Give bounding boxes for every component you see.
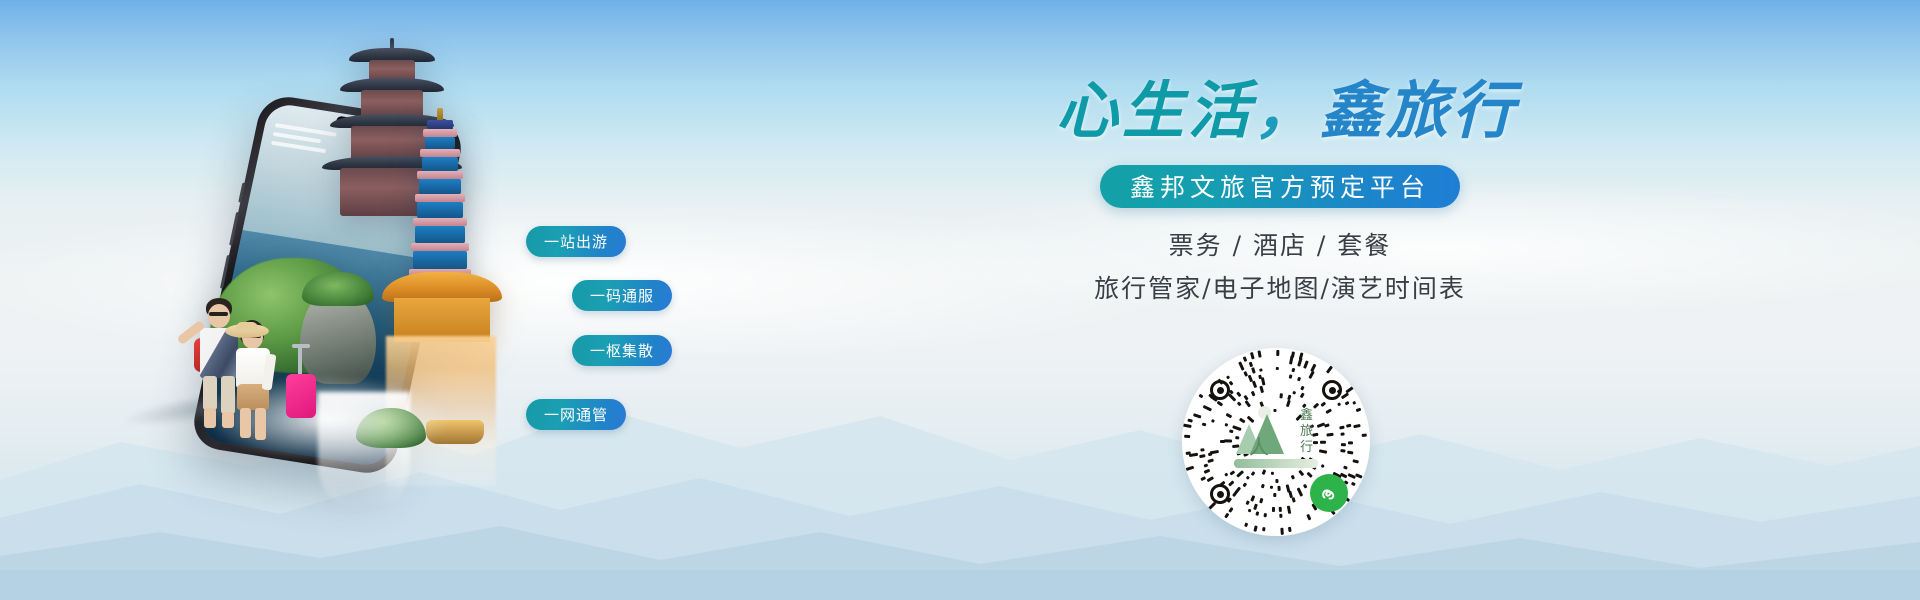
feature-pill-group: 一站出游 一码通服 一枢集散 一网通管 (520, 180, 820, 460)
headline-part-b: 鑫旅行 (1320, 74, 1518, 147)
female-traveler (226, 310, 288, 432)
service-line-2: 旅行管家/电子地图/演艺时间表 (1000, 269, 1560, 305)
headline-comma: ， (1254, 74, 1320, 147)
feature-pill-one-code-service[interactable]: 一码通服 (572, 280, 672, 311)
feature-pill-label: 一码通服 (590, 285, 654, 306)
qr-finder-top-right (1322, 380, 1342, 400)
promo-text-block: 心生活，鑫旅行 鑫邦文旅官方预定平台 票务 / 酒店 / 套餐 旅行管家/电子地… (1000, 78, 1560, 305)
service-line-1: 票务 / 酒店 / 套餐 (1000, 226, 1560, 262)
headline: 心生活，鑫旅行 (1000, 78, 1560, 145)
headline-part-a: 心生活 (1056, 74, 1254, 147)
wechat-miniprogram-icon[interactable] (1310, 474, 1348, 512)
feature-pill-label: 一网通管 (544, 404, 608, 425)
feature-pill-one-stop-travel[interactable]: 一站出游 (526, 226, 626, 257)
feature-pill-label: 一站出游 (544, 231, 608, 252)
qr-finder-bottom-left (1210, 484, 1230, 504)
travel-couple (168, 288, 318, 448)
feature-pill-one-net-management[interactable]: 一网通管 (526, 399, 626, 430)
service-list: 票务 / 酒店 / 套餐 旅行管家/电子地图/演艺时间表 (1000, 226, 1560, 305)
suitcase-handle (298, 346, 302, 376)
phone-volume-up-button (229, 212, 239, 246)
logo-base-stroke (1234, 459, 1318, 468)
qr-code-block[interactable]: 人 鑫旅行 (1182, 348, 1370, 536)
qr-center-logo: 人 鑫旅行 (1232, 402, 1320, 476)
logo-brand-text: 鑫旅行 (1300, 408, 1318, 456)
platform-badge-label: 鑫邦文旅官方预定平台 (1130, 168, 1430, 204)
logo-person-glyph: 人 (1249, 431, 1269, 460)
travel-promo-banner: 一站出游 一码通服 一枢集散 一网通管 心生活，鑫旅行 鑫邦文旅官方预定平台 票… (0, 0, 1920, 600)
feature-pill-one-hub-transfer[interactable]: 一枢集散 (572, 335, 672, 366)
qr-finder-top-left (1210, 380, 1230, 400)
pink-suitcase (286, 374, 316, 418)
feature-pill-label: 一枢集散 (590, 340, 654, 361)
phone-mute-button (238, 183, 245, 203)
platform-badge[interactable]: 鑫邦文旅官方预定平台 (1100, 165, 1460, 208)
qr-code-circle[interactable]: 人 鑫旅行 (1182, 348, 1370, 536)
